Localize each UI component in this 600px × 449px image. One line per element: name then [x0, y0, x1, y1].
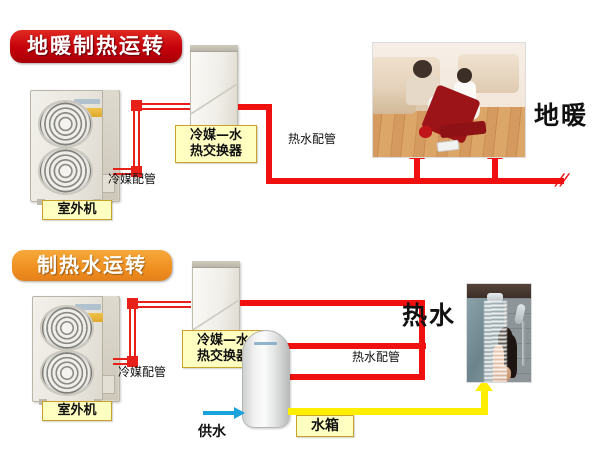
water-supply-caption: 供水: [198, 421, 226, 441]
hot-water-delivery-pipe: [288, 408, 488, 415]
hot-water-pipe-caption-hot-water: 热水配管: [352, 348, 400, 365]
water-supply-pipe: [203, 411, 236, 415]
hot-water-pipe-down: [266, 104, 272, 184]
hot-water-photo: [466, 283, 532, 383]
water-tank-caption: 水箱: [296, 415, 354, 437]
fan-icon: [38, 147, 93, 195]
hot-water-pipe-out: [240, 300, 425, 306]
hot-water-pipe-return: [290, 374, 425, 380]
refrigerant-pipe-to-hydrobox: [129, 301, 191, 308]
fan-icon: [40, 305, 94, 351]
diagram-canvas: 地暖制热运转 室外机 冷媒配管 冷媒—水 热交换器: [0, 0, 600, 449]
heat-exchanger-caption-line2: 热交换器: [176, 144, 256, 160]
water-tank: [242, 330, 290, 428]
outdoor-unit-hot-water: [32, 296, 118, 400]
heat-exchanger-caption-line1: 冷媒—水: [176, 128, 256, 144]
refrigerant-pipe-caption-hot-water: 冷媒配管: [118, 363, 166, 380]
hot-water-pipe-branch: [492, 158, 498, 180]
fan-icon: [38, 100, 93, 148]
hydrobox-floor-heating: [190, 45, 238, 137]
hydrobox-top-cap: [192, 261, 240, 268]
refrigerant-pipe-caption-floor-heating: 冷媒配管: [108, 170, 156, 187]
control-panel: [102, 375, 115, 394]
pipe-joint: [131, 100, 142, 111]
supply-arrow-right-icon: [234, 407, 245, 419]
section-badge-floor-heating: 地暖制热运转: [10, 30, 182, 63]
brand-logo: [254, 342, 276, 345]
hot-water-pipe-caption-floor-heating: 热水配管: [288, 130, 336, 147]
destination-label-floor-heating: 地暖: [534, 96, 588, 132]
outdoor-unit-caption-floor-heating: 室外机: [42, 200, 112, 220]
hot-water-pipe-branch: [414, 158, 420, 180]
outdoor-unit-floor-heating: [30, 90, 118, 200]
heat-exchanger-caption-floor-heating: 冷媒—水 热交换器: [175, 125, 257, 163]
floor-heating-photo: [372, 42, 526, 158]
refrigerant-pipe-vertical: [133, 103, 140, 175]
hydrobox-top-cap: [190, 45, 238, 52]
outdoor-unit-caption-hot-water: 室外机: [42, 401, 112, 421]
destination-label-hot-water: 热水: [402, 296, 456, 332]
hot-water-delivery-riser: [481, 390, 488, 415]
pipe-joint: [127, 298, 138, 309]
section-badge-hot-water: 制热水运转: [12, 250, 172, 281]
pipe-break-symbol: //: [553, 170, 570, 189]
fan-icon: [40, 350, 94, 396]
